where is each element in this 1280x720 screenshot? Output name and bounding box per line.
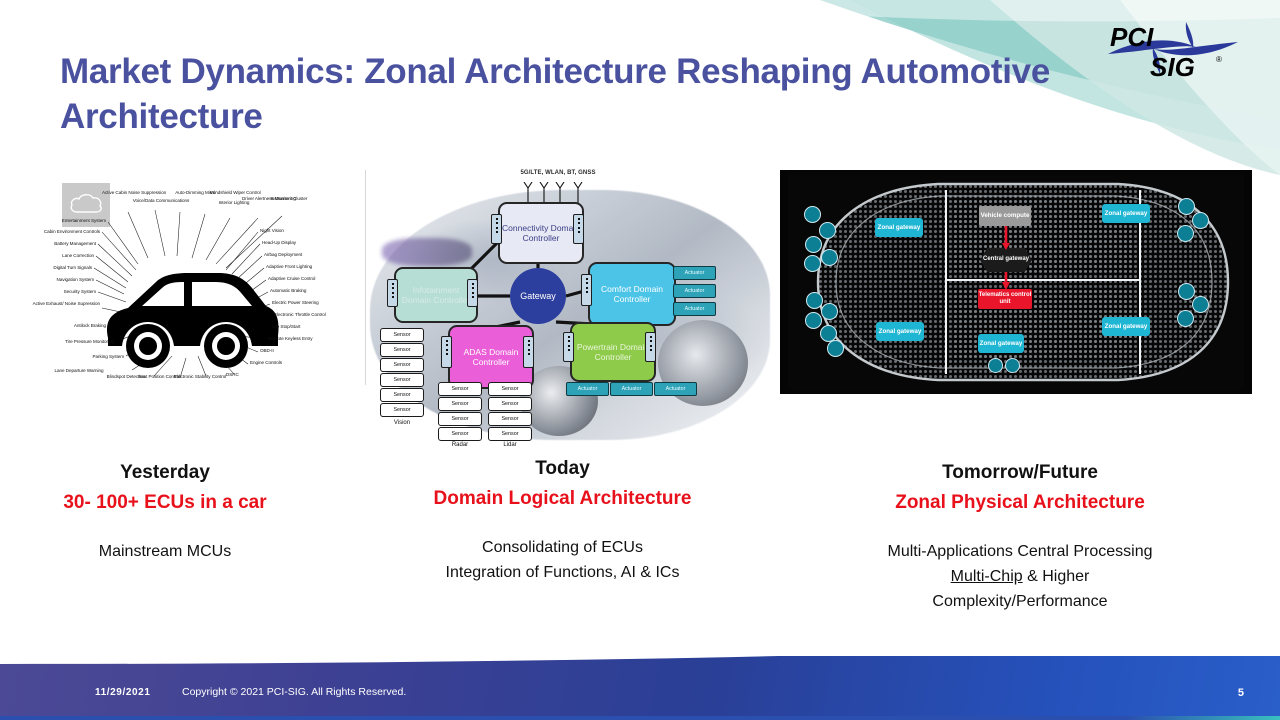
gateway-node[interactable]: Gateway xyxy=(510,268,566,324)
zonal-architecture-image: Zonal gateway Zonal gateway Vehicle comp… xyxy=(780,170,1252,394)
caption-yesterday: Yesterday 30- 100+ ECUs in a car Mainstr… xyxy=(20,462,310,565)
zone-node-l8 xyxy=(805,312,822,329)
label-battery-management: Battery Management xyxy=(20,241,96,247)
desc-line: Multi-Applications Central Processing xyxy=(790,540,1250,565)
zone-node-r5 xyxy=(1192,296,1209,313)
adas-domain-controller[interactable]: ADAS Domain Controller xyxy=(448,325,534,389)
label-active-exhaust: Active Exhaust/ Noise Supression xyxy=(20,301,100,307)
actuator-2: Actuator xyxy=(673,284,716,298)
pwr-pins-left xyxy=(563,332,574,362)
zone-node-l10 xyxy=(827,340,844,357)
sensor-radar-4: Sensor xyxy=(438,427,482,441)
zonal-gateway-rear-left[interactable]: Zonal gateway xyxy=(1102,204,1150,223)
zonal-gateway-front-right[interactable]: Zonal gateway xyxy=(876,322,924,341)
car-silhouette-icon xyxy=(102,260,282,372)
description-today: Consolidating of ECUs Integration of Fun… xyxy=(370,536,755,586)
zone-node-l7 xyxy=(821,303,838,320)
sensor-vision-2: Sensor xyxy=(380,343,424,357)
era-label-yesterday: Yesterday xyxy=(20,462,310,484)
panel-yesterday: Active Cabin Noise Suppression Voice/Dat… xyxy=(20,170,365,425)
label-head-up-display: Head-Up Display xyxy=(262,240,296,246)
sensor-vision-6: Sensor xyxy=(380,403,424,417)
label-night-vision: Night Vision xyxy=(260,228,284,234)
caption-today: Today Domain Logical Architecture Consol… xyxy=(370,458,755,586)
sensor-vision-3: Sensor xyxy=(380,358,424,372)
label-instrument-cluster: Instrument Cluster xyxy=(270,196,308,202)
label-windshield-wiper: Windshield Wiper Control xyxy=(210,190,258,196)
zone-node-r6 xyxy=(1177,310,1194,327)
sensor-radar-1: Sensor xyxy=(438,382,482,396)
zone-node-r2 xyxy=(1192,212,1209,229)
label-cabin-environment: Cabin Environment Controls xyxy=(20,229,100,235)
conn-pins-right xyxy=(573,214,584,244)
adas-pins-right xyxy=(523,336,534,368)
label-electronic-stability: Electronic Stability Control xyxy=(174,374,220,380)
label-digital-turn-signals: Digital Turn Signals xyxy=(20,265,92,271)
zone-node-l2 xyxy=(819,222,836,239)
desc-line: Complexity/Performance xyxy=(790,590,1250,615)
actuator-6: Actuator xyxy=(654,382,697,396)
zonal-gateway-rear-right[interactable]: Zonal gateway xyxy=(1102,317,1150,336)
label-remote-keyless-entry: Remote Keyless Entry xyxy=(268,336,312,342)
label-engine-controls: Engine Controls xyxy=(250,360,282,366)
label-electric-power-steering: Electric Power Steering xyxy=(272,300,319,306)
underlined-term: Multi-Chip xyxy=(951,568,1023,585)
zone-node-r4 xyxy=(1178,283,1195,300)
label-obd-ii: OBD-II xyxy=(260,348,274,354)
caption-tomorrow: Tomorrow/Future Zonal Physical Architect… xyxy=(790,462,1250,614)
sensor-lidar-1: Sensor xyxy=(488,382,532,396)
label-tire-pressure: Tire Pressure Monitoring xyxy=(20,339,114,345)
today-diagram: 5G/LTE, WLAN, BT, GNSS xyxy=(370,170,770,455)
zone-node-b1 xyxy=(988,358,1003,373)
actuator-4: Actuator xyxy=(566,382,609,396)
era-label-today: Today xyxy=(370,458,755,480)
sensor-group-vision: Vision xyxy=(378,420,426,426)
architecture-label-today: Domain Logical Architecture xyxy=(370,488,755,510)
comfort-domain-controller[interactable]: Comfort Domain Controller xyxy=(588,262,676,326)
era-label-tomorrow: Tomorrow/Future xyxy=(790,462,1250,484)
powertrain-domain-controller[interactable]: Powertrain Domain Controller xyxy=(570,322,656,382)
info-pins-left xyxy=(387,279,398,307)
footer-curve xyxy=(0,630,1280,720)
label-parking-system: Parking System xyxy=(20,354,124,360)
pwr-pins-right xyxy=(645,332,656,362)
actuator-3: Actuator xyxy=(673,302,716,316)
sensor-radar-2: Sensor xyxy=(438,397,482,411)
description-yesterday: Mainstream MCUs xyxy=(20,540,310,565)
footer-date: 11/29/2021 xyxy=(95,687,151,698)
label-entertainment-system: Entertainment System xyxy=(20,218,106,224)
zone-node-b2 xyxy=(1005,358,1020,373)
architecture-label-tomorrow: Zonal Physical Architecture xyxy=(790,492,1250,514)
pci-sig-logo: PCI SIG ® xyxy=(1088,14,1258,84)
architecture-label-yesterday: 30- 100+ ECUs in a car xyxy=(20,492,310,514)
svg-text:PCI: PCI xyxy=(1110,22,1154,52)
svg-text:®: ® xyxy=(1216,55,1222,64)
desc-line: Mainstream MCUs xyxy=(20,540,310,565)
label-antilock-braking: Antilock Braking xyxy=(20,323,106,329)
label-electronic-throttle: Electronic Throttle Control xyxy=(274,312,326,318)
label-security-system: Security System xyxy=(20,289,96,295)
zonal-gateway-bottom[interactable]: Zonal gateway xyxy=(978,334,1024,353)
svg-text:SIG: SIG xyxy=(1150,52,1195,82)
zonal-gateway-front-left[interactable]: Zonal gateway xyxy=(875,218,923,237)
label-lane-departure-warning: Lane Departure Warning xyxy=(54,368,104,374)
sensor-vision-4: Sensor xyxy=(380,373,424,387)
zone-node-l6 xyxy=(806,292,823,309)
label-lane-correction: Lane Correction xyxy=(20,253,94,259)
center-links xyxy=(998,224,1014,294)
label-voice-data-comm: Voice/Data Communications xyxy=(132,198,190,204)
slide-root: PCI SIG ® Market Dynamics: Zonal Archite… xyxy=(0,0,1280,720)
zone-node-l3 xyxy=(805,236,822,253)
sensor-vision-5: Sensor xyxy=(380,388,424,402)
zone-node-l5 xyxy=(804,255,821,272)
footer-accent-strip xyxy=(0,716,1280,720)
label-airbag-deployment: Airbag Deployment xyxy=(264,252,302,258)
sensor-lidar-2: Sensor xyxy=(488,397,532,411)
page-number: 5 xyxy=(1238,687,1244,699)
sensor-group-lidar: Lidar xyxy=(486,442,534,448)
comfort-pins-left xyxy=(581,274,592,306)
zone-node-r1 xyxy=(1178,198,1195,215)
footer-copyright: Copyright © 2021 PCI-SIG. All Rights Res… xyxy=(182,686,406,698)
desc-line: Consolidating of ECUs xyxy=(370,536,755,561)
sensor-vision-1: Sensor xyxy=(380,328,424,342)
divider-line xyxy=(365,170,366,385)
sensor-lidar-3: Sensor xyxy=(488,412,532,426)
label-dsrc: DSRC xyxy=(226,372,239,378)
label-navigation-system: Navigation System xyxy=(20,277,94,283)
label-adaptive-cruise-control: Adaptive Cruise Control xyxy=(268,276,315,282)
connectivity-domain-controller[interactable]: Connectivity Domain Controller xyxy=(498,202,584,264)
sensor-lidar-4: Sensor xyxy=(488,427,532,441)
label-active-cabin-noise: Active Cabin Noise Suppression xyxy=(102,190,156,196)
label-automatic-braking: Automatic Braking xyxy=(270,288,306,294)
conn-pins-left xyxy=(491,214,502,244)
desc-line-multichip: Multi-Chip & Higher xyxy=(790,565,1250,590)
actuator-5: Actuator xyxy=(610,382,653,396)
slide-footer: 11/29/2021 Copyright © 2021 PCI-SIG. All… xyxy=(0,630,1280,720)
label-blindspot-detection: Blindspot Detection xyxy=(106,374,146,380)
zone-node-l1 xyxy=(804,206,821,223)
panel-today: 5G/LTE, WLAN, BT, GNSS xyxy=(370,170,770,455)
yesterday-diagram: Active Cabin Noise Suppression Voice/Dat… xyxy=(20,170,365,425)
desc-line: Integration of Functions, AI & ICs xyxy=(370,561,755,586)
info-pins-right xyxy=(467,279,478,307)
label-idle-stop-start: Idle Stop/Start xyxy=(272,324,300,330)
zone-node-l4 xyxy=(821,249,838,266)
description-tomorrow: Multi-Applications Central Processing Mu… xyxy=(790,540,1250,614)
vehicle-compute[interactable]: Vehicle compute xyxy=(979,206,1031,226)
sensor-group-radar: Radar xyxy=(436,442,484,448)
actuator-1: Actuator xyxy=(673,266,716,280)
sensor-radar-3: Sensor xyxy=(438,412,482,426)
page-title: Market Dynamics: Zonal Architecture Resh… xyxy=(60,50,1070,140)
zone-node-r3 xyxy=(1177,225,1194,242)
adas-pins-left xyxy=(441,336,452,368)
label-adaptive-front-lighting: Adaptive Front Lighting xyxy=(266,264,312,270)
panel-tomorrow: Zonal gateway Zonal gateway Vehicle comp… xyxy=(780,170,1258,394)
infotainment-domain-controller[interactable]: Infotainment Domain Controller xyxy=(394,267,478,323)
